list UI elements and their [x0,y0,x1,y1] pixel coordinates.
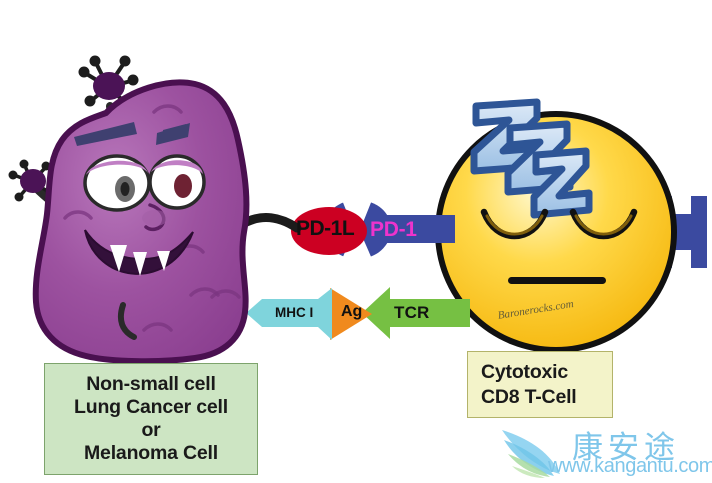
cancer-cell-caption: Non-small cell Lung Cancer cell or Melan… [44,363,258,475]
cancer-caption-line-1: Non-small cell [86,373,215,396]
t-cell-caption-line-2: CD8 T-Cell [481,385,577,410]
t-cell-caption-line-1: Cytotoxic [481,360,568,385]
t-cell-caption: Cytotoxic CD8 T-Cell [467,351,613,418]
figure-canvas: PD-1L PD-1 MHC I Ag TCR Baronerocks.com … [0,0,712,483]
pd1l-ligand-icon [291,207,367,255]
brand-url: www.kangantu.com [548,455,712,478]
tumour-pd1l-tether [241,218,297,228]
antigen-icon [330,288,372,340]
mhc1-icon [246,288,332,340]
cancer-caption-line-2: Lung Cancer cell [74,396,228,419]
cancer-cell-body [36,82,247,361]
cancer-caption-line-4: Melanoma Cell [84,442,218,465]
brand-logo: 康安途 www.kangantu.com [498,424,698,480]
cancer-caption-line-3: or [141,419,160,442]
